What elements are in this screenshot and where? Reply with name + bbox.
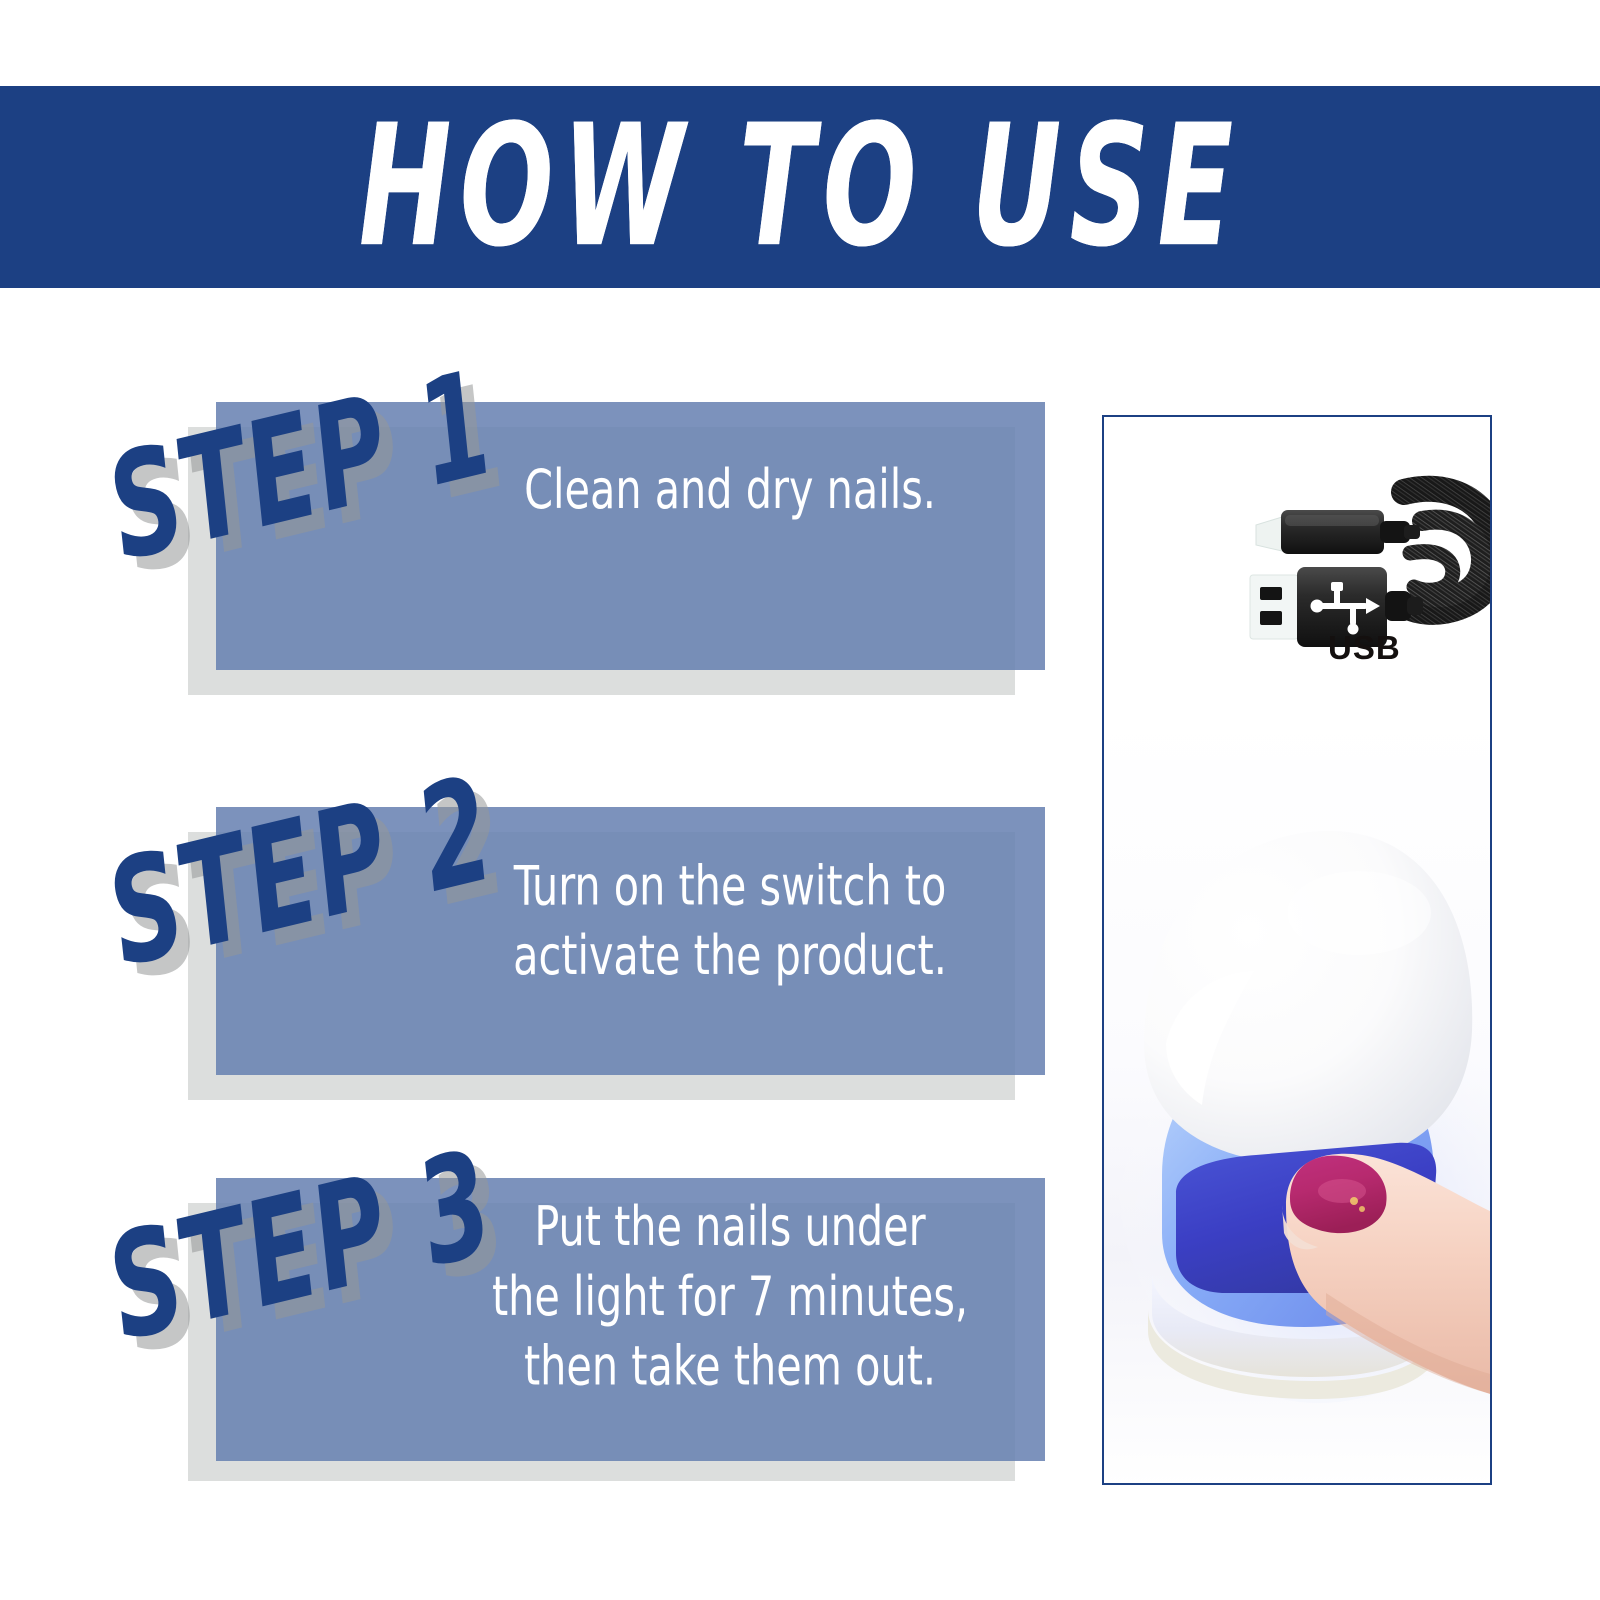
product-panel-inner: USB <box>1104 417 1490 1483</box>
steps-column: STEP 1 Clean and dry nails. STEP 2 Turn … <box>0 0 1060 1600</box>
step-2-text: Turn on the switch to activate the produ… <box>450 851 1010 990</box>
product-image-panel: USB <box>1102 415 1492 1485</box>
micro-usb-connector <box>1281 510 1420 554</box>
usb-cable-image: USB <box>1104 417 1490 717</box>
step-3-text-line-2: the light for 7 minutes, <box>450 1262 1010 1331</box>
step-3-text-line-3: then take them out. <box>450 1331 1010 1400</box>
step-1-text-line-1: Clean and dry nails. <box>450 455 1010 524</box>
step-1-text: Clean and dry nails. <box>450 455 1010 524</box>
braided-cable <box>1404 489 1490 612</box>
step-2-text-line-2: activate the product. <box>450 921 1010 990</box>
uv-lamp-image <box>1104 713 1490 1483</box>
step-2-text-line-1: Turn on the switch to <box>450 851 1010 920</box>
usb-caption: USB <box>1328 629 1401 667</box>
step-3-text: Put the nails under the light for 7 minu… <box>450 1192 1010 1400</box>
usb-a-shell-icon <box>1250 575 1298 639</box>
step-3-text-line-1: Put the nails under <box>450 1192 1010 1261</box>
uv-lamp-illustration <box>1104 713 1490 1483</box>
usb-cable-illustration <box>1104 417 1490 717</box>
micro-usb-tip-icon <box>1256 517 1282 551</box>
